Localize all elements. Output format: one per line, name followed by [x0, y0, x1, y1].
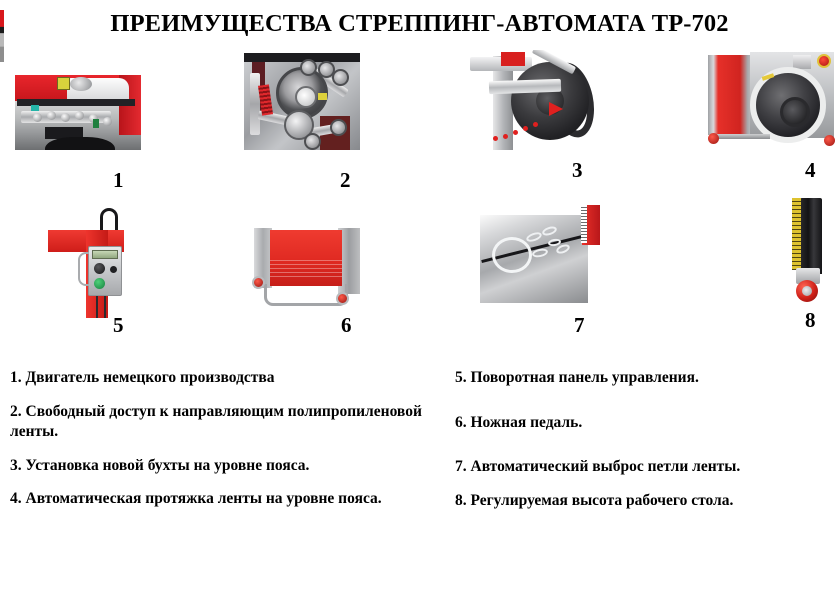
description-item-1: 1. Двигатель немецкого производства [10, 368, 442, 389]
figure-number-2: 2 [340, 170, 351, 191]
description-item-6: 6. Ножная педаль. [455, 413, 839, 434]
figure-image-7 [480, 205, 600, 305]
description-list-left: 1. Двигатель немецкого производства 2. С… [10, 368, 442, 523]
description-item-2: 2. Свободный доступ к направляющим полип… [10, 402, 442, 443]
figure-image-5 [48, 208, 134, 318]
description-item-8: 8. Регулируемая высота рабочего стола. [455, 491, 839, 512]
description-list-right: 5. Поворотная панель управления. 6. Ножн… [455, 368, 839, 524]
figure-number-8: 8 [805, 310, 816, 331]
figure-number-1: 1 [113, 170, 124, 191]
figure-number-6: 6 [341, 315, 352, 336]
figure-number-5: 5 [113, 315, 124, 336]
figure-image-8 [788, 198, 828, 308]
description-item-5: 5. Поворотная панель управления. [455, 368, 839, 389]
figure-number-3: 3 [572, 160, 583, 181]
figure-image-2 [244, 53, 360, 150]
description-item-7: 7. Автоматический выброс петли ленты. [455, 457, 839, 478]
figure-image-1 [15, 75, 141, 150]
figure-image-4 [700, 50, 837, 150]
figure-image-3 [465, 50, 600, 150]
description-item-3: 3. Установка новой бухты на уровне пояса… [10, 456, 442, 477]
page-title: ПРЕИМУЩЕСТВА СТРЕППИНГ-АВТОМАТА ТР-702 [0, 10, 839, 38]
slide-canvas: ПРЕИМУЩЕСТВА СТРЕППИНГ-АВТОМАТА ТР-702 1 [0, 0, 839, 591]
description-item-4: 4. Автоматическая протяжка ленты на уров… [10, 489, 442, 510]
figure-number-7: 7 [574, 315, 585, 336]
figure-number-4: 4 [805, 160, 816, 181]
figure-image-6 [244, 218, 368, 314]
